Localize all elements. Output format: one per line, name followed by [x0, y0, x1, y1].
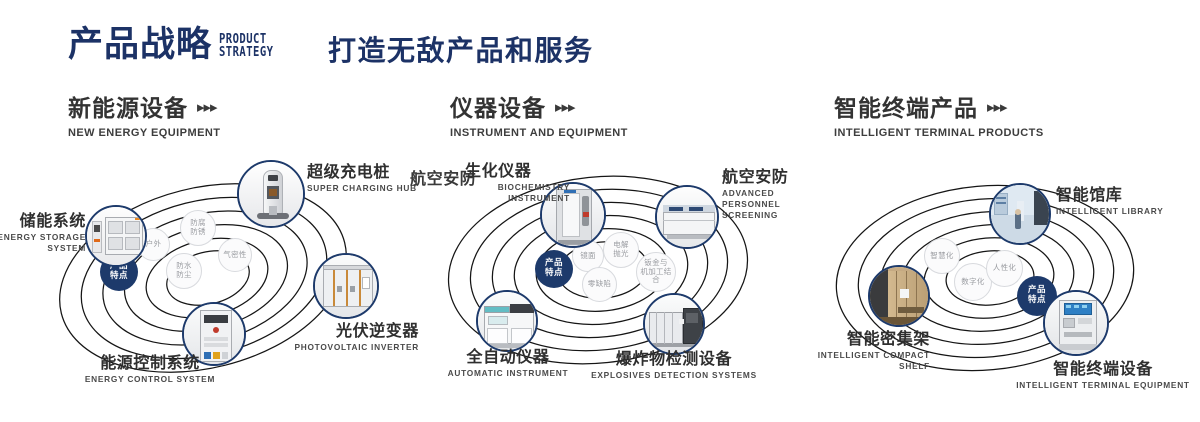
- feature-bubble-zero-defect: 零缺陷: [582, 267, 617, 302]
- feature-bubble-line1: 防水: [176, 261, 192, 270]
- node-advanced-personnel-screening[interactable]: [655, 185, 719, 249]
- page-headline: 打造无敌产品和服务: [328, 36, 594, 67]
- chevron-right-icon: ▸▸▸: [197, 98, 217, 116]
- feature-bubble-line1: 人性化: [993, 264, 1016, 273]
- core-bubble-line1: 产品: [1028, 285, 1046, 295]
- core-bubble-line2: 特点: [110, 271, 128, 281]
- node-intelligent-terminal-equipment[interactable]: [1043, 290, 1109, 356]
- section-heading-en: NEW ENERGY EQUIPMENT: [68, 127, 220, 139]
- node-label-photovoltaic-inverter: 光伏逆变器 PHOTOVOLTAIC INVERTER: [219, 322, 419, 353]
- chevron-right-icon: ▸▸▸: [987, 98, 1007, 116]
- feature-bubble-line1: 镜面: [580, 252, 596, 261]
- feature-bubble-line2: 防锈: [190, 227, 206, 236]
- feature-bubble-line1: 气密性: [223, 251, 246, 260]
- page-title-english: PRODUCT STRATEGY: [219, 33, 273, 59]
- feature-bubble-smart: 智慧化: [924, 238, 960, 274]
- node-super-charging-hub[interactable]: [237, 160, 305, 228]
- feature-bubble-anti-corrosion: 防腐防锈: [180, 210, 216, 246]
- node-intelligent-library[interactable]: [989, 183, 1051, 245]
- feature-bubble-waterproof: 防水防尘: [166, 253, 202, 289]
- feature-bubble-line1: 钣金与: [644, 258, 667, 267]
- node-label-explosives-detection-systems: 爆炸物检测设备 EXPLOSIVES DETECTION SYSTEMS: [584, 350, 764, 381]
- node-label-energy-control-system: 能源控制系统 ENERGY CONTROL SYSTEM: [60, 354, 240, 385]
- feature-bubble-line1: 零缺陷: [588, 280, 611, 289]
- node-label-cn: 能源控制系统: [60, 354, 240, 372]
- node-label-energy-storage-system: 储能系统 ENERGY STORAGE SYSTEM: [0, 212, 86, 254]
- feature-bubble-airtightness: 气密性: [218, 238, 252, 272]
- node-label-en: INTELLIGENT COMPACT SHELF: [760, 350, 930, 371]
- core-bubble-line1: 产品: [545, 258, 563, 268]
- node-automatic-instrument[interactable]: [476, 290, 538, 352]
- node-label-en: ENERGY STORAGE SYSTEM: [0, 232, 86, 253]
- diagram-new-energy: 防腐防锈 户外 防水防尘 气密性 产品特点 储能系统 ENERGY STORAG…: [0, 150, 420, 400]
- node-label-cn: 爆炸物检测设备: [584, 350, 764, 368]
- node-label-en: INTELLIGENT LIBRARY: [1056, 206, 1164, 217]
- section-heading-cn: 仪器设备: [450, 96, 546, 122]
- node-label-cn: 智能密集架: [760, 330, 930, 348]
- diagram-intelligent-terminal: 智慧化 数字化 人性化 产品特点 智能馆库 INTELLIGENT LIBRAR…: [790, 150, 1200, 400]
- core-bubble-product-features: 产品特点: [535, 250, 573, 288]
- section-heading-intelligent-terminal: 智能终端产品▸▸▸ INTELLIGENT TERMINAL PRODUCTS: [834, 96, 1044, 139]
- node-label-cn: 储能系统: [0, 212, 86, 230]
- node-label-cn: 生化仪器: [465, 162, 570, 180]
- node-label-intelligent-compact-shelf: 智能密集架 INTELLIGENT COMPACT SHELF: [760, 330, 930, 372]
- page-title: 产品战略: [68, 28, 212, 63]
- section-heading-instrument: 仪器设备▸▸▸ INSTRUMENT AND EQUIPMENT: [450, 96, 628, 139]
- feature-bubble-electrolytic-polishing: 电解抛光: [603, 232, 639, 268]
- chevron-right-icon: ▸▸▸: [555, 98, 575, 116]
- feature-bubble-line2: 抛光: [613, 249, 629, 258]
- node-photovoltaic-inverter[interactable]: [313, 253, 379, 319]
- section-heading-cn: 新能源设备: [68, 96, 188, 122]
- node-label-intelligent-library: 智能馆库 INTELLIGENT LIBRARY: [1056, 186, 1164, 217]
- feature-bubble-sheetmetal-machining: 钣金与机加工结合: [636, 252, 676, 292]
- section-heading-cn: 智能终端产品: [834, 96, 978, 122]
- feature-bubble-line2: 机加工结合: [640, 267, 671, 285]
- node-label-en: BIOCHEMISTRY INSTRUMENT: [465, 182, 570, 203]
- node-intelligent-compact-shelf[interactable]: [868, 265, 930, 327]
- node-label-en: ENERGY CONTROL SYSTEM: [60, 374, 240, 385]
- node-label-en: AUTOMATIC INSTRUMENT: [428, 368, 588, 379]
- feature-bubble-line1: 数字化: [961, 278, 984, 287]
- node-label-intelligent-terminal-equipment: 智能终端设备 INTELLIGENT TERMINAL EQUIPMENT: [1008, 360, 1198, 391]
- node-label-cn: 光伏逆变器: [219, 322, 419, 340]
- feature-bubble-line1: 防腐: [190, 218, 206, 227]
- feature-bubble-line1: 智慧化: [930, 252, 953, 261]
- page-header: 产品战略 PRODUCT STRATEGY 打造无敌产品和服务: [0, 0, 1200, 86]
- node-label-cn: 智能终端设备: [1008, 360, 1198, 378]
- section-heading-en: INSTRUMENT AND EQUIPMENT: [450, 127, 628, 139]
- node-label-biochemistry-instrument: 生化仪器 BIOCHEMISTRY INSTRUMENT: [465, 162, 570, 204]
- feature-bubble-line1: 电解: [613, 240, 629, 249]
- diagram-instrument: 镜面 电解抛光 零缺陷 钣金与机加工结合 产品特点 航空安防 生化仪器 BIOC…: [400, 150, 820, 400]
- section-heading-en: INTELLIGENT TERMINAL PRODUCTS: [834, 127, 1044, 139]
- node-explosives-detection-systems[interactable]: [643, 293, 705, 355]
- page-title-english-line2: STRATEGY: [219, 46, 273, 59]
- node-label-en: EXPLOSIVES DETECTION SYSTEMS: [584, 370, 764, 381]
- feature-bubble-line2: 防尘: [176, 270, 192, 279]
- node-energy-storage-system[interactable]: [85, 205, 147, 267]
- node-label-cn: 全自动仪器: [428, 348, 588, 366]
- core-bubble-line2: 特点: [1028, 295, 1046, 305]
- node-label-en: PHOTOVOLTAIC INVERTER: [219, 342, 419, 353]
- node-label-en: INTELLIGENT TERMINAL EQUIPMENT: [1008, 380, 1198, 391]
- core-bubble-line2: 特点: [545, 268, 563, 278]
- section-heading-new-energy: 新能源设备▸▸▸ NEW ENERGY EQUIPMENT: [68, 96, 220, 139]
- node-label-automatic-instrument: 全自动仪器 AUTOMATIC INSTRUMENT: [428, 348, 588, 379]
- feature-bubble-line1: 户外: [146, 240, 162, 249]
- node-label-cn: 智能馆库: [1056, 186, 1164, 204]
- feature-bubble-humanized: 人性化: [986, 250, 1023, 287]
